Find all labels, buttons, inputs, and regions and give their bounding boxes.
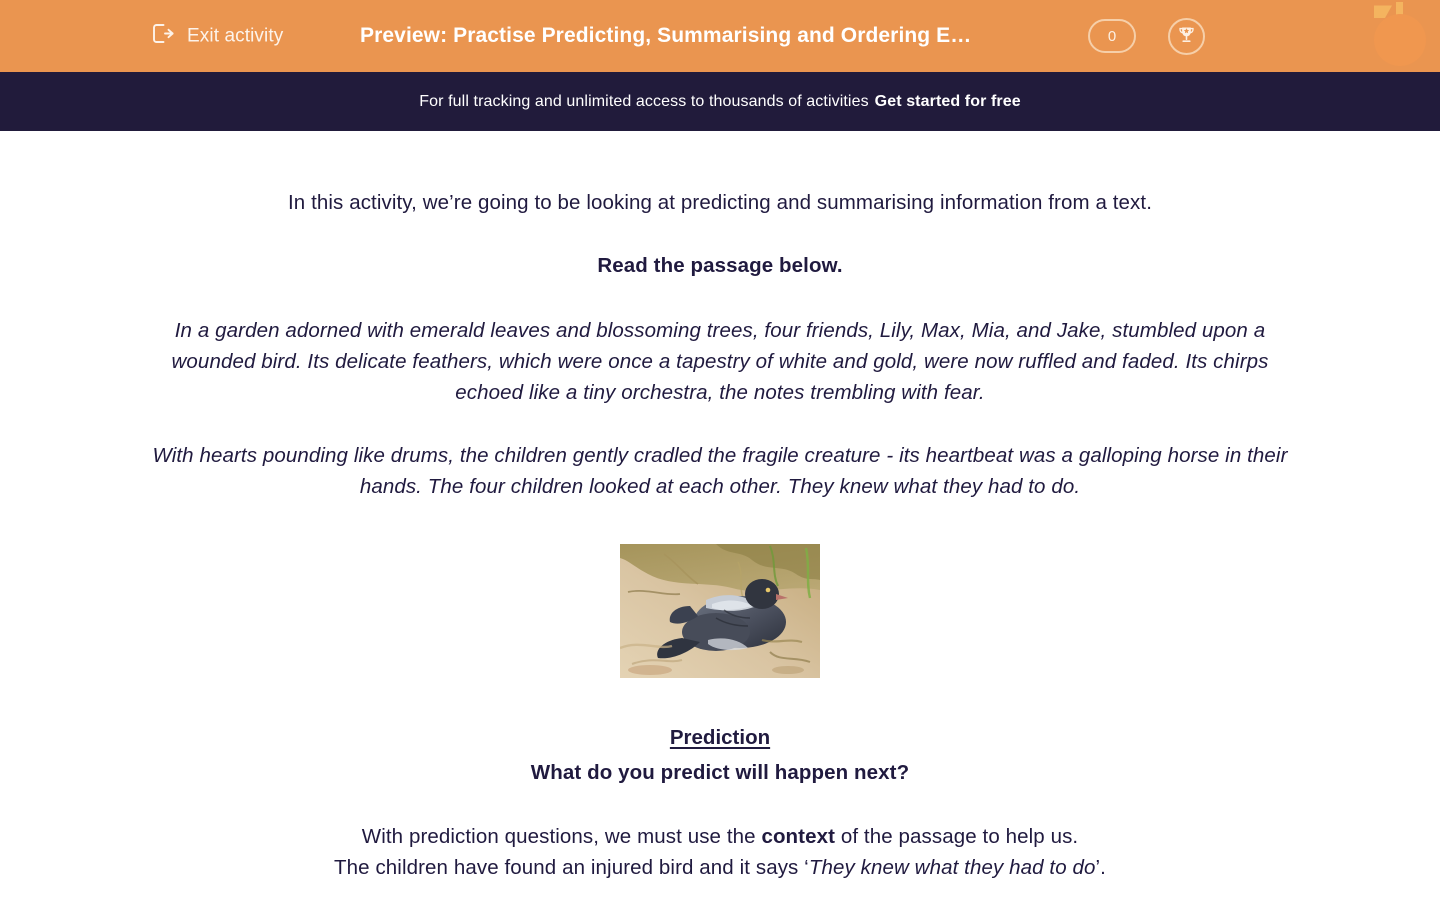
trophy-icon — [1176, 24, 1197, 50]
coin-count-value: 0 — [1108, 28, 1116, 45]
exit-activity-label: Exit activity — [187, 25, 283, 47]
logo-circle-shape — [1374, 14, 1426, 66]
exit-activity-button[interactable]: Exit activity — [148, 20, 283, 53]
passage-paragraph-1: In a garden adorned with emerald leaves … — [140, 315, 1300, 408]
passage-paragraph-2: With hearts pounding like drums, the chi… — [140, 440, 1300, 502]
exit-door-arrow-icon — [148, 20, 176, 53]
read-passage-instruction: Read the passage below. — [100, 251, 1340, 281]
app-header: Exit activity Preview: Practise Predicti… — [0, 0, 1440, 72]
explanation-line-2: The children have found an injured bird … — [100, 852, 1340, 883]
trophy-button[interactable] — [1168, 18, 1205, 55]
wounded-pigeon-photo — [620, 544, 820, 678]
explanation-line-2-after: ’. — [1096, 856, 1106, 879]
coin-count-badge[interactable]: 0 — [1088, 19, 1136, 53]
activity-title: Preview: Practise Predicting, Summarisin… — [360, 24, 971, 48]
explanation-line-1-before: With prediction questions, we must use t… — [362, 825, 762, 848]
activity-intro-text: In this activity, we’re going to be look… — [100, 188, 1340, 218]
prediction-question: What do you predict will happen next? — [100, 758, 1340, 788]
explanation-quote-italic: They knew what they had to do — [809, 856, 1096, 879]
explanation-line-1: With prediction questions, we must use t… — [100, 821, 1340, 852]
prediction-explanation: With prediction questions, we must use t… — [100, 821, 1340, 883]
explanation-keyword-context: context — [761, 825, 835, 848]
activity-content: In this activity, we’re going to be look… — [0, 188, 1440, 900]
explanation-line-2-before: The children have found an injured bird … — [334, 856, 809, 879]
get-started-link[interactable]: Get started for free — [875, 93, 1021, 111]
passage-figure — [100, 544, 1340, 678]
promo-banner: For full tracking and unlimited access t… — [0, 72, 1440, 131]
explanation-line-1-after: of the passage to help us. — [835, 825, 1078, 848]
promo-banner-text: For full tracking and unlimited access t… — [419, 93, 868, 111]
prediction-heading: Prediction — [100, 723, 1340, 753]
orange-fruit-logo[interactable] — [1366, 2, 1432, 68]
